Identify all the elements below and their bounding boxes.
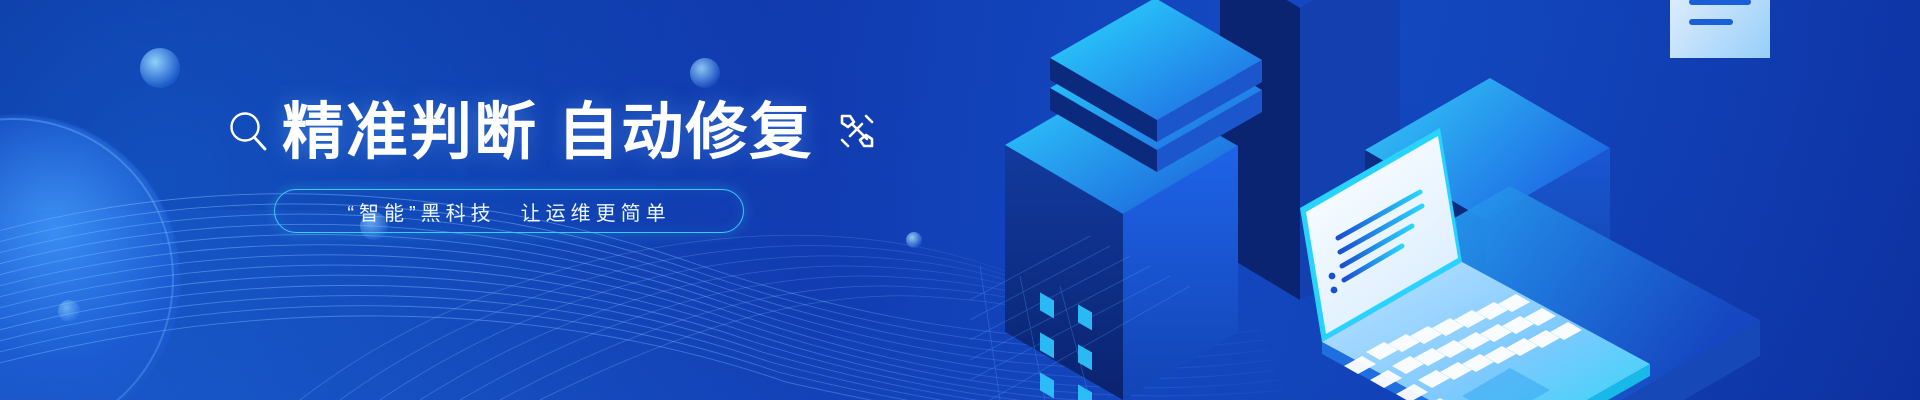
- page-title: 精准判断 自动修复: [282, 101, 813, 165]
- headline-row: 精准判断 自动修复: [228, 95, 868, 171]
- banner-copy: 精准判断 自动修复 “智能”黑科技 让运维更简单: [228, 95, 868, 233]
- bokeh-dot: [906, 232, 922, 248]
- promo-banner: 精准判断 自动修复 “智能”黑科技 让运维更简单: [0, 0, 1920, 400]
- isometric-illustration: [970, 0, 1920, 400]
- magnifier-icon: [228, 109, 268, 158]
- floating-document-card: [1670, 0, 1770, 58]
- wrench-icon: [833, 107, 881, 160]
- glow-sphere: [0, 115, 180, 400]
- glow-sphere-ring: [0, 118, 174, 400]
- subtitle-pill: “智能”黑科技 让运维更简单: [274, 189, 744, 233]
- bokeh-dot: [690, 58, 720, 88]
- bokeh-dot: [58, 300, 80, 322]
- bokeh-dot: [140, 48, 180, 88]
- subtitle-text: “智能”黑科技 让运维更简单: [347, 197, 670, 226]
- bottom-glow-strip: [0, 210, 1100, 400]
- main-building: [1005, 0, 1262, 400]
